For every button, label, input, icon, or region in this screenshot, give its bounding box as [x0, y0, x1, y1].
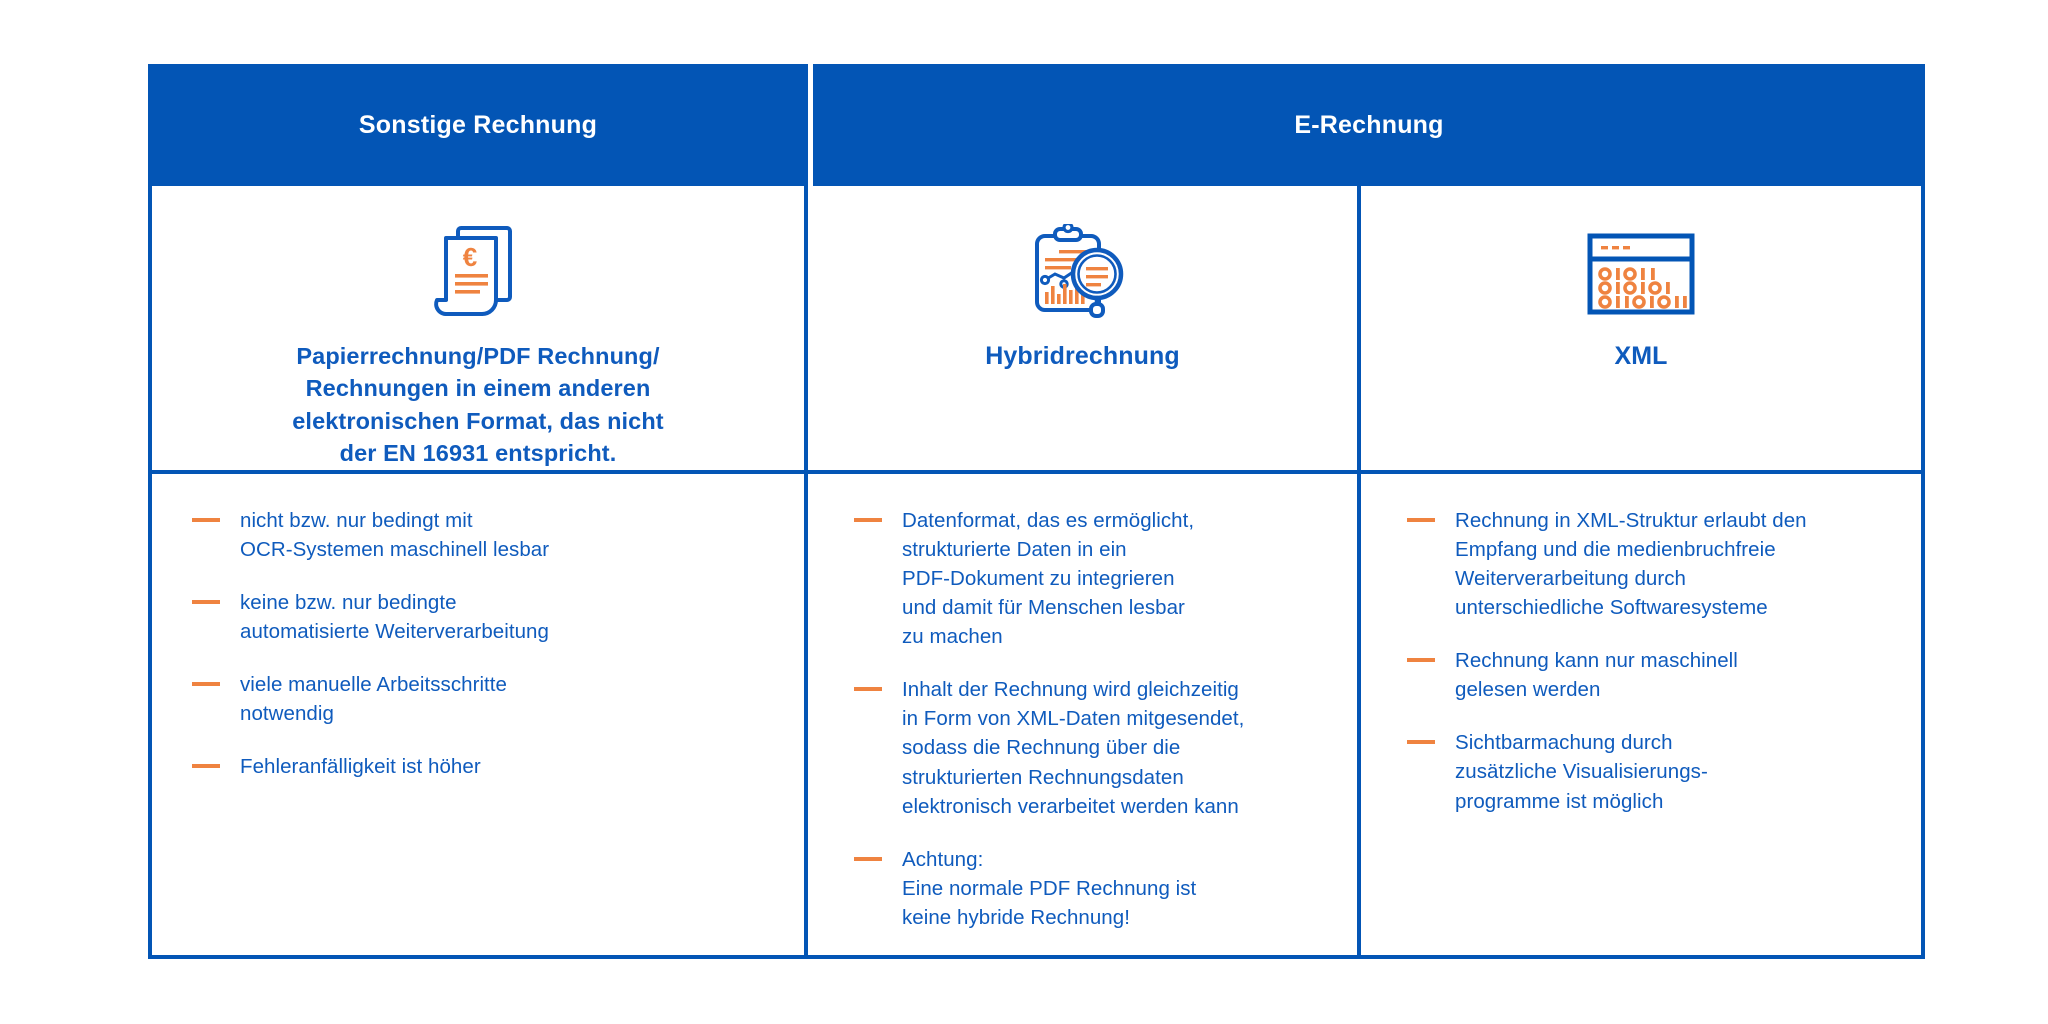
list-item-text: Rechnung kann nur maschinell gelesen wer…: [1455, 646, 1738, 704]
bullet-list-hybrid: Datenformat, das es ermöglicht, struktur…: [808, 474, 1357, 932]
list-item: viele manuelle Arbeitsschritte notwendig: [192, 670, 778, 728]
svg-text:€: €: [463, 242, 477, 272]
comparison-table: Sonstige Rechnung E-Rechnung: [148, 64, 1925, 959]
list-item-text: Achtung: Eine normale PDF Rechnung ist k…: [902, 845, 1196, 932]
bullet-list-xml: Rechnung in XML-Struktur erlaubt den Emp…: [1361, 474, 1921, 816]
list-item: Inhalt der Rechnung wird gleichzeitig in…: [854, 675, 1339, 821]
dash-icon: [192, 682, 220, 686]
table-body: € Papierrechnung/PDF Rechnung/ Rechnunge…: [148, 186, 1925, 959]
table-row-features: nicht bzw. nur bedingt mit OCR-Systemen …: [152, 474, 1921, 956]
list-item-text: keine bzw. nur bedingte automatisierte W…: [240, 588, 549, 646]
list-item: keine bzw. nur bedingte automatisierte W…: [192, 588, 778, 646]
browser-binary-code-icon: [1587, 222, 1695, 326]
list-item: Rechnung kann nur maschinell gelesen wer…: [1407, 646, 1897, 704]
list-item-text: viele manuelle Arbeitsschritte notwendig: [240, 670, 507, 728]
list-item-text: nicht bzw. nur bedingt mit OCR-Systemen …: [240, 506, 549, 564]
bullet-list-sonstige: nicht bzw. nur bedingt mit OCR-Systemen …: [152, 474, 804, 782]
list-item-text: Inhalt der Rechnung wird gleichzeitig in…: [902, 675, 1244, 821]
list-item-text: Rechnung in XML-Struktur erlaubt den Emp…: [1455, 506, 1807, 622]
table-header-row: Sonstige Rechnung E-Rechnung: [148, 64, 1925, 186]
dash-icon: [854, 687, 882, 691]
cell-type-hybrid: Hybridrechnung: [804, 186, 1357, 470]
header-sonstige-rechnung: Sonstige Rechnung: [148, 64, 808, 186]
dash-icon: [854, 857, 882, 861]
list-item-text: Datenformat, das es ermöglicht, struktur…: [902, 506, 1194, 652]
header-e-rechnung: E-Rechnung: [813, 64, 1925, 186]
header-left-label: Sonstige Rechnung: [359, 111, 597, 140]
clipboard-magnifier-icon: [1031, 222, 1135, 326]
dash-icon: [1407, 518, 1435, 522]
list-item: Fehleranfälligkeit ist höher: [192, 752, 778, 781]
list-item: Achtung: Eine normale PDF Rechnung ist k…: [854, 845, 1339, 932]
dash-icon: [1407, 658, 1435, 662]
header-right-label: E-Rechnung: [1294, 111, 1443, 140]
cell-type-xml: XML: [1357, 186, 1921, 470]
list-item: Rechnung in XML-Struktur erlaubt den Emp…: [1407, 506, 1897, 622]
list-item: nicht bzw. nur bedingt mit OCR-Systemen …: [192, 506, 778, 564]
list-item-text: Fehleranfälligkeit ist höher: [240, 752, 481, 781]
cell-features-sonstige: nicht bzw. nur bedingt mit OCR-Systemen …: [152, 474, 804, 956]
type-label-xml: XML: [1614, 340, 1667, 373]
list-item: Datenformat, das es ermöglicht, struktur…: [854, 506, 1339, 652]
diagram-canvas: Sonstige Rechnung E-Rechnung: [0, 0, 2048, 1024]
dash-icon: [1407, 740, 1435, 744]
table-row-types: € Papierrechnung/PDF Rechnung/ Rechnunge…: [152, 186, 1921, 474]
type-label-sonstige: Papierrechnung/PDF Rechnung/ Rechnungen …: [292, 340, 663, 470]
dash-icon: [854, 518, 882, 522]
cell-type-sonstige: € Papierrechnung/PDF Rechnung/ Rechnunge…: [152, 186, 804, 470]
dash-icon: [192, 764, 220, 768]
dash-icon: [192, 518, 220, 522]
list-item: Sichtbarmachung durch zusätzliche Visual…: [1407, 728, 1897, 815]
list-item-text: Sichtbarmachung durch zusätzliche Visual…: [1455, 728, 1708, 815]
cell-features-xml: Rechnung in XML-Struktur erlaubt den Emp…: [1357, 474, 1921, 956]
type-label-hybrid: Hybridrechnung: [985, 340, 1179, 373]
paper-invoice-euro-icon: €: [432, 222, 524, 326]
cell-features-hybrid: Datenformat, das es ermöglicht, struktur…: [804, 474, 1357, 956]
dash-icon: [192, 600, 220, 604]
